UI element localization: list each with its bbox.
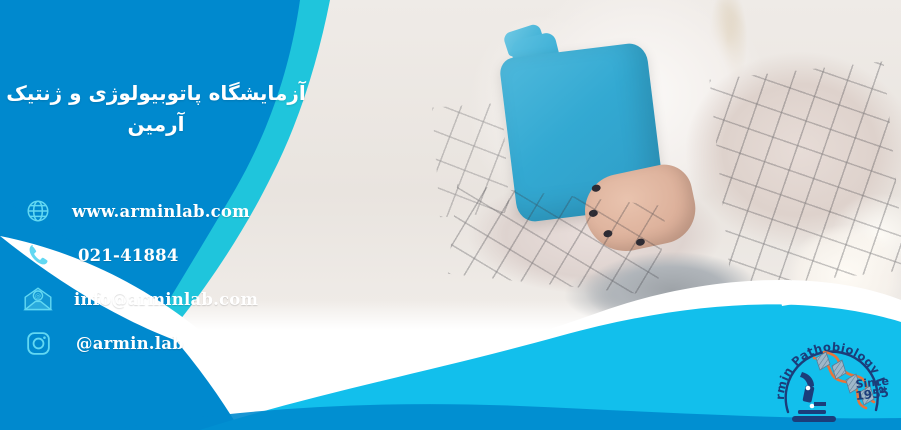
page-title: آزمایشگاه پاتوبیولوژی و ژنتیک آرمین bbox=[0, 78, 312, 140]
instagram-icon bbox=[18, 324, 58, 362]
contact-item-instagram[interactable]: @armin.lab bbox=[18, 322, 258, 364]
envelope-icon: @ bbox=[18, 280, 58, 318]
contact-item-website[interactable]: www.arminlab.com bbox=[18, 190, 258, 232]
contact-email-label: info@arminlab.com bbox=[74, 290, 258, 309]
page-title-line-2: آرمین bbox=[0, 109, 312, 140]
contact-phone-label: 021-41884 bbox=[78, 246, 179, 265]
contact-instagram-label: @armin.lab bbox=[76, 334, 184, 353]
banner: آزمایشگاه پاتوبیولوژی و ژنتیک آرمین www.… bbox=[0, 0, 901, 430]
page-title-line-1: آزمایشگاه پاتوبیولوژی و ژنتیک bbox=[0, 78, 312, 109]
phone-icon bbox=[18, 236, 58, 274]
contact-list: www.arminlab.com 021-41884 @ bbox=[18, 190, 258, 366]
left-content-panel: آزمایشگاه پاتوبیولوژی و ژنتیک آرمین www.… bbox=[0, 0, 380, 430]
logo[interactable]: Armin Pathobiology Lab bbox=[768, 326, 896, 430]
contact-website-label: www.arminlab.com bbox=[72, 202, 250, 221]
contact-item-phone[interactable]: 021-41884 bbox=[18, 234, 258, 276]
microscope-icon bbox=[792, 372, 836, 422]
contact-item-email[interactable]: @ info@arminlab.com bbox=[18, 278, 258, 320]
svg-text:@: @ bbox=[35, 292, 41, 300]
globe-icon bbox=[18, 192, 58, 230]
logo-since-year: 1955 bbox=[855, 386, 890, 403]
